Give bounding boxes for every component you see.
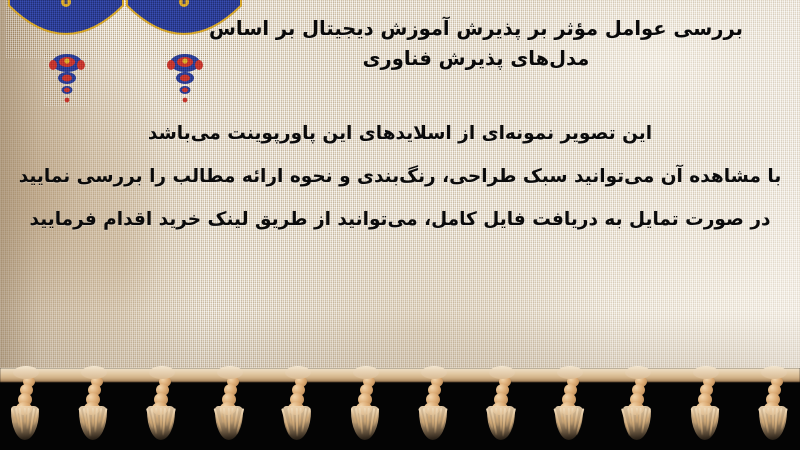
carpet-tassel bbox=[281, 376, 315, 438]
tassel-strand bbox=[160, 408, 162, 431]
tassel-strand bbox=[636, 408, 638, 424]
carpet-tassel bbox=[485, 376, 519, 438]
tassel-strand bbox=[772, 408, 774, 430]
slide-title-line-1: بررسی عوامل مؤثر بر پذیرش آموزش دیجیتال … bbox=[176, 14, 776, 44]
slide-body-line-2: با مشاهده آن می‌توانید سبک طراحی، رنگ‌بن… bbox=[14, 155, 786, 198]
carpet-tassel bbox=[349, 376, 383, 438]
carpet-fringe-band bbox=[0, 368, 800, 450]
slide-body-line-1: این تصویر نمونه‌ای از اسلایدهای این پاور… bbox=[14, 112, 786, 155]
carpet-tassel bbox=[417, 376, 451, 438]
tassel-strand bbox=[500, 408, 502, 432]
carpet-edge-bump bbox=[353, 366, 379, 379]
tassel-strand bbox=[432, 408, 434, 429]
carpet-pendant-left-icon bbox=[44, 54, 90, 106]
carpet-tassel bbox=[553, 376, 587, 438]
carpet-edge-bump bbox=[149, 366, 175, 379]
tassel-strand bbox=[24, 408, 26, 425]
tassel-strand bbox=[704, 408, 706, 427]
tassel-strand bbox=[364, 408, 366, 426]
carpet-tassel bbox=[621, 376, 655, 438]
tassel-strand bbox=[92, 408, 94, 428]
carpet-edge-bump bbox=[761, 366, 787, 379]
carpet-tassel bbox=[757, 376, 791, 438]
carpet-tassel bbox=[77, 376, 111, 438]
tassel-strand bbox=[296, 408, 298, 437]
carpet-edge-bump bbox=[81, 366, 107, 379]
carpet-tassel bbox=[145, 376, 179, 438]
carpet-tassel bbox=[9, 376, 43, 438]
carpet-edge-strip bbox=[0, 368, 800, 382]
carpet-edge-bump bbox=[217, 366, 243, 379]
carpet-edge-bump bbox=[489, 366, 515, 379]
slide-title: بررسی عوامل مؤثر بر پذیرش آموزش دیجیتال … bbox=[176, 14, 776, 74]
slide-body-line-3: در صورت تمایل به دریافت فایل کامل، می‌تو… bbox=[14, 198, 786, 241]
slide-title-line-2: مدل‌های پذیرش فناوری bbox=[176, 44, 776, 74]
carpet-edge-bump bbox=[421, 366, 447, 379]
carpet-edge-bump bbox=[625, 366, 651, 379]
carpet-edge-bump bbox=[557, 366, 583, 379]
tassel-strand bbox=[568, 408, 570, 435]
carpet-tassel bbox=[213, 376, 247, 438]
carpet-edge-bump bbox=[693, 366, 719, 379]
slide-body: این تصویر نمونه‌ای از اسلایدهای این پاور… bbox=[14, 112, 786, 241]
slide-canvas: بررسی عوامل مؤثر بر پذیرش آموزش دیجیتال … bbox=[0, 0, 800, 450]
carpet-edge-bump bbox=[285, 366, 311, 379]
carpet-tassel bbox=[689, 376, 723, 438]
tassel-strand bbox=[228, 408, 230, 434]
carpet-edge-bump bbox=[13, 366, 39, 379]
carpet-medallion-left-icon bbox=[6, 0, 126, 58]
